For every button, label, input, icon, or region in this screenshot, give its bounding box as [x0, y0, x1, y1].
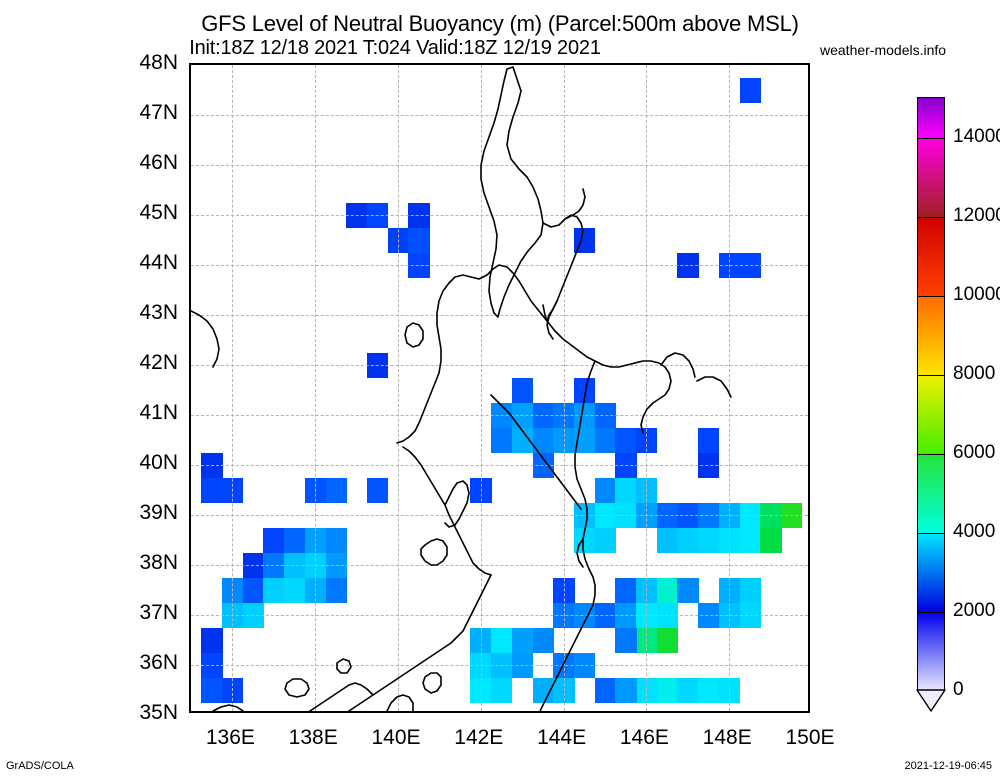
colorbar-tick-label: 10000: [953, 284, 1000, 306]
colorbar-tick-label: 6000: [953, 442, 995, 464]
x-axis-tick-label: 136E: [206, 726, 255, 750]
y-axis-tick-label: 46N: [139, 151, 178, 175]
y-axis-tick-label: 38N: [139, 551, 178, 575]
colorbar-tick-label: 14000: [953, 126, 1000, 148]
colorbar-extend-min-arrow: [916, 689, 946, 712]
x-axis-tick-label: 138E: [289, 726, 338, 750]
x-axis-tick-label: 142E: [454, 726, 503, 750]
y-axis-tick-label: 42N: [139, 351, 178, 375]
y-axis-tick-label: 39N: [139, 501, 178, 525]
y-axis-tick-label: 45N: [139, 201, 178, 225]
x-axis-tick-label: 146E: [620, 726, 669, 750]
y-axis-tick-label: 40N: [139, 451, 178, 475]
footer-timestamp: 2021-12-19-06:45: [905, 760, 992, 772]
chart-title: GFS Level of Neutral Buoyancy (m) (Parce…: [0, 11, 1000, 37]
colorbar-tick-label: 0: [953, 679, 964, 701]
y-axis-tick-label: 35N: [139, 701, 178, 725]
y-axis-tick-label: 41N: [139, 401, 178, 425]
y-axis-tick-label: 37N: [139, 601, 178, 625]
colorbar-tick-label: 2000: [953, 600, 995, 622]
colorbar-tick-label: 12000: [953, 205, 1000, 227]
x-axis-tick-label: 144E: [537, 726, 586, 750]
chart-subtitle: Init:18Z 12/18 2021 T:024 Valid:18Z 12/1…: [0, 37, 790, 60]
footer-credit: GrADS/COLA: [6, 760, 74, 772]
y-axis-tick-label: 43N: [139, 301, 178, 325]
x-axis-tick-label: 140E: [371, 726, 420, 750]
x-axis-tick-label: 148E: [703, 726, 752, 750]
brand-label: weather-models.info: [820, 42, 946, 58]
axis-labels-layer: 35N36N37N38N39N40N41N42N43N44N45N46N47N4…: [189, 63, 810, 713]
y-axis-tick-label: 44N: [139, 251, 178, 275]
x-axis-tick-label: 150E: [785, 726, 834, 750]
colorbar-tick-label: 8000: [953, 363, 995, 385]
y-axis-tick-label: 48N: [139, 51, 178, 75]
colorbar-labels: 02000400060008000100001200014000: [917, 97, 945, 690]
colorbar-tick-label: 4000: [953, 521, 995, 543]
y-axis-tick-label: 36N: [139, 651, 178, 675]
y-axis-tick-label: 47N: [139, 101, 178, 125]
